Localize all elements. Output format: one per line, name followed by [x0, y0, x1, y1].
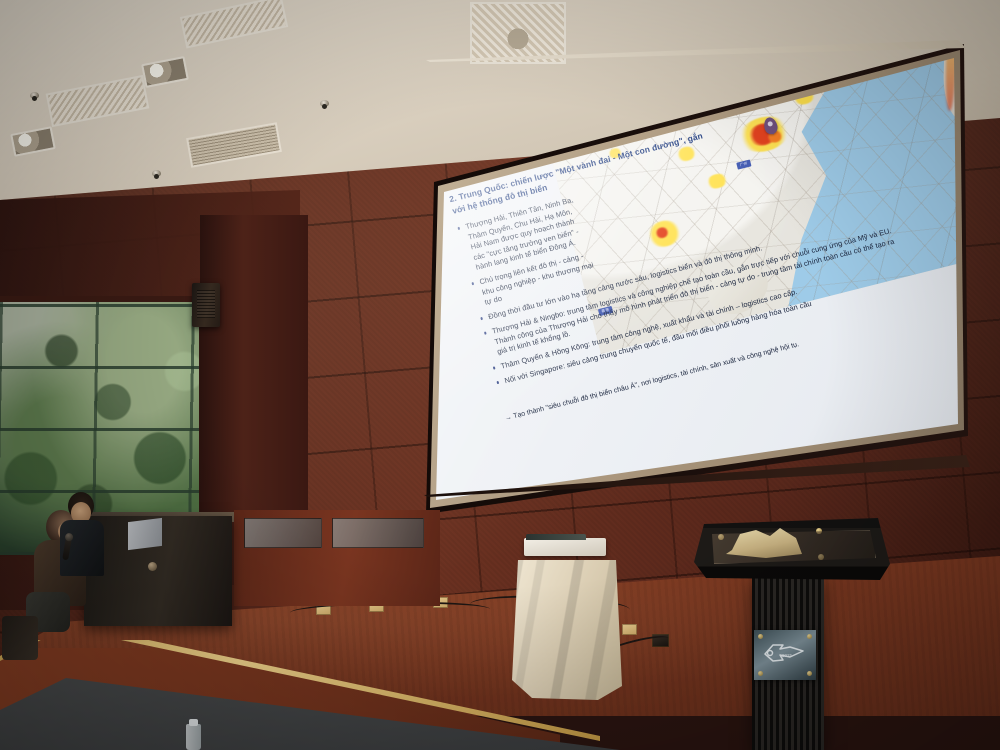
- sprinkler-head-1: [30, 92, 39, 99]
- counter-glass-window-right: [332, 518, 424, 548]
- bag-on-floor: [2, 616, 38, 660]
- plaque-year: 2025: [782, 653, 793, 658]
- projector-table-cloth-folds: [512, 560, 622, 700]
- counter-glass-window-left: [244, 518, 322, 548]
- plaque-screw: [807, 634, 812, 639]
- podium-plaque-logo-icon: 2025: [760, 640, 810, 666]
- sprinkler-head-3: [152, 170, 161, 177]
- wall-outlet-4: [622, 624, 637, 635]
- podium-plaque: 2025: [754, 630, 816, 680]
- plaque-screw: [758, 671, 763, 676]
- conference-room-photo: 广州 香港 2. Trung Quốc: chiến lược "Một vàn…: [0, 0, 1000, 750]
- water-bottle: [186, 724, 201, 750]
- desk-knob: [148, 562, 157, 571]
- sprinkler-head-2: [320, 100, 329, 107]
- projector: [524, 538, 606, 556]
- wall-speaker: [192, 283, 220, 327]
- air-diffuser-square-center: [470, 2, 566, 64]
- laptop: [128, 518, 162, 550]
- plaque-screw: [758, 634, 763, 639]
- plaque-screw: [807, 671, 812, 676]
